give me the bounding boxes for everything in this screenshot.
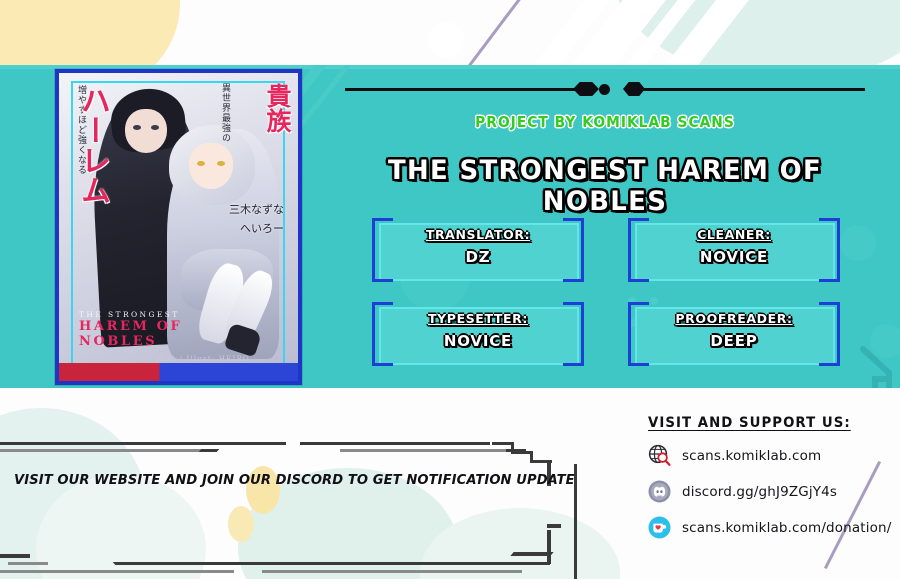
credits-grid: TRANSLATOR: DZ CLEANER: NOVICE TYPESETTE…	[372, 218, 850, 368]
character-female-eye	[217, 161, 225, 166]
cover-english-title: THE STRONGEST HAREM OF NOBLES Author: Na…	[79, 311, 259, 364]
frame-left-bracket	[0, 554, 30, 558]
cover-illustrator: へいろー	[229, 220, 284, 239]
cover-bottom-band	[59, 363, 298, 381]
project-by-label: PROJECT BY KOMIKLAB SCANS	[366, 113, 844, 131]
frame-line	[0, 442, 286, 445]
support-title: VISIT AND SUPPORT US:	[648, 415, 886, 431]
character-female-eye	[197, 161, 205, 166]
flask-watermark-icon	[845, 323, 900, 388]
support-link-website[interactable]: scans.komiklab.com	[648, 444, 898, 467]
frame-line-right	[547, 524, 561, 528]
cover-credits: 三木なずな へいろー	[229, 201, 284, 238]
credit-role-label: TRANSLATOR:	[372, 227, 584, 242]
cover-en-line2: HAREM OF NOBLES	[79, 320, 259, 350]
book-cover: 異世界最強の 貴族 増やすほど強くなる ハーレム 三木なずな へいろー THE …	[55, 69, 302, 385]
character-female-face	[189, 143, 233, 189]
credit-role-label: PROOFREADER:	[628, 311, 840, 326]
cover-jp-title: 貴族	[230, 83, 290, 133]
cover-jp-title-katakana: ハーレム	[77, 85, 107, 205]
credit-person-name: DEEP	[628, 332, 840, 350]
frame-line	[118, 562, 494, 565]
credit-person-name: DZ	[372, 248, 584, 266]
credits-page: 異世界最強の 貴族 増やすほど強くなる ハーレム 三木なずな へいろー THE …	[0, 0, 900, 579]
support-link-donation[interactable]: scans.komiklab.com/donation/	[648, 516, 898, 539]
support-link-text[interactable]: scans.komiklab.com	[682, 448, 821, 464]
book-cover-artwork: 異世界最強の 貴族 増やすほど強くなる ハーレム 三木なずな へいろー THE …	[59, 73, 298, 381]
frame-line	[0, 570, 234, 573]
support-link-text[interactable]: discord.gg/ghJ9ZGjY4s	[682, 484, 837, 500]
frame-line	[492, 562, 550, 565]
support-section: VISIT AND SUPPORT US: scans.komiklab.com	[648, 415, 898, 539]
frame-line	[199, 449, 220, 452]
ornamental-divider	[345, 82, 865, 96]
credit-person-name: NOVICE	[628, 248, 840, 266]
credit-box-proofreader: PROOFREADER: DEEP	[628, 302, 840, 366]
frame-step	[506, 449, 526, 452]
bottom-banner-frame	[0, 432, 594, 552]
character-male-eye	[133, 125, 141, 130]
credit-box-translator: TRANSLATOR: DZ	[372, 218, 584, 282]
character-male-eye	[151, 125, 159, 130]
page-title: THE STRONGEST HAREM OF NOBLES	[355, 155, 854, 217]
frame-line	[113, 562, 132, 565]
discord-icon	[648, 480, 671, 503]
support-link-discord[interactable]: discord.gg/ghJ9ZGjY4s	[648, 480, 898, 503]
divider-dot-icon	[599, 84, 610, 95]
frame-left-bracket	[8, 562, 48, 565]
frame-line	[340, 449, 506, 452]
credit-person-name: NOVICE	[372, 332, 584, 350]
frame-line-right	[547, 530, 551, 564]
divider-line-right	[629, 88, 865, 91]
frame-line	[262, 570, 522, 573]
credit-box-cleaner: CLEANER: NOVICE	[628, 218, 840, 282]
globe-search-icon	[648, 444, 671, 467]
blob-white-topright	[428, 22, 464, 58]
frame-line	[300, 442, 490, 445]
character-male-face	[125, 109, 167, 153]
divider-diamond-icon	[573, 82, 599, 96]
frame-line	[0, 449, 206, 452]
donation-heart-icon	[648, 516, 671, 539]
banner-message: VISIT OUR WEBSITE AND JOIN OUR DISCORD T…	[14, 472, 557, 488]
cover-author: 三木なずな	[229, 201, 284, 220]
support-link-text[interactable]: scans.komiklab.com/donation/	[682, 520, 891, 536]
frame-step	[510, 552, 553, 556]
divider-line-left	[345, 88, 581, 91]
credit-box-typesetter: TYPESETTER: NOVICE	[372, 302, 584, 366]
credit-role-label: CLEANER:	[628, 227, 840, 242]
credit-role-label: TYPESETTER:	[372, 311, 584, 326]
cover-frame-line	[71, 81, 73, 373]
